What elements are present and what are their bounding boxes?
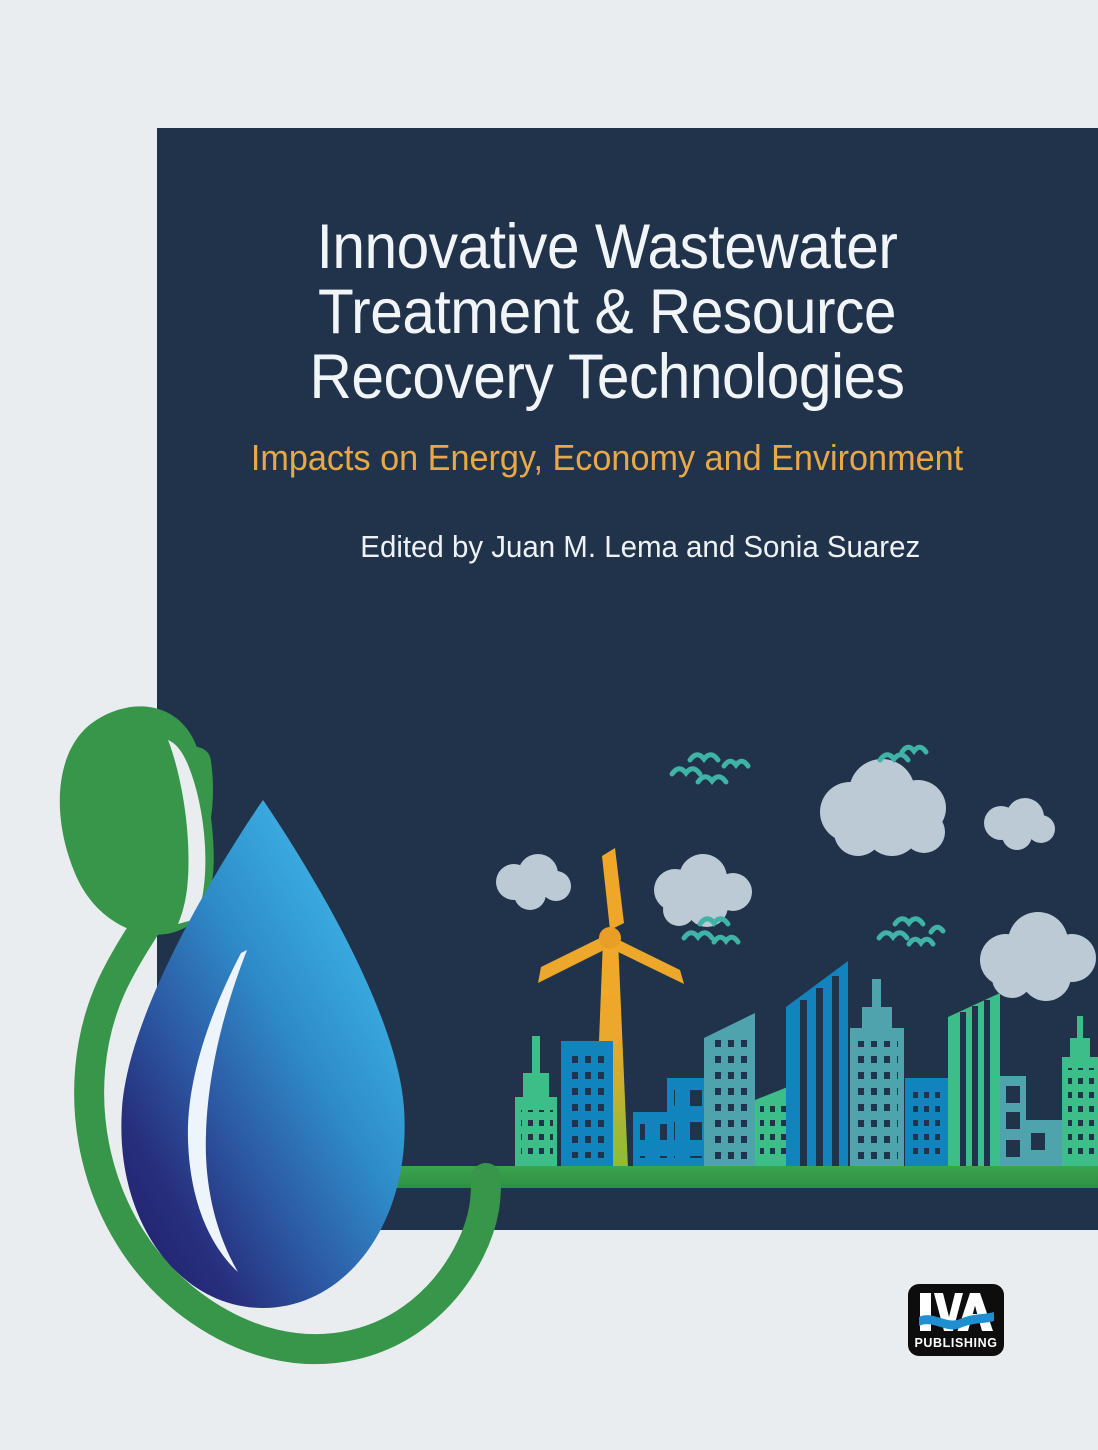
- title-line-1: Innovative Wastewater: [189, 215, 1026, 280]
- title-block: Innovative Wastewater Treatment & Resour…: [157, 215, 1057, 565]
- publishing-wordmark: PUBLISHING: [914, 1336, 997, 1350]
- title-line-2: Treatment & Resource: [189, 280, 1026, 345]
- editors-line: Edited by Juan M. Lema and Sonia Suarez: [180, 529, 1035, 565]
- iwa-logo-mark: PUBLISHING: [908, 1284, 1004, 1356]
- subtitle: Impacts on Energy, Economy and Environme…: [180, 438, 1035, 478]
- iwa-publishing-logo: PUBLISHING: [908, 1284, 1004, 1356]
- title-line-3: Recovery Technologies: [189, 345, 1026, 410]
- book-cover: Innovative Wastewater Treatment & Resour…: [0, 0, 1098, 1450]
